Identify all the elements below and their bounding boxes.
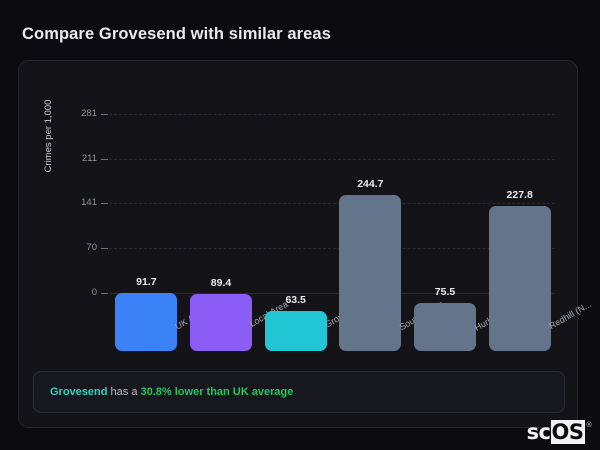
caption-middle-text: has a	[107, 386, 140, 398]
plot-area: Crimes per 1,000 070141211281 91.7UK Ave…	[19, 61, 577, 361]
y-tick-mark	[101, 248, 108, 249]
y-tick-mark	[101, 114, 108, 115]
y-tick-mark	[101, 293, 108, 294]
bar-group: 91.7UK Average89.4Local Area63.5Grovesen…	[109, 61, 555, 351]
bar[interactable]	[339, 195, 401, 351]
caption-area-name: Grovesend	[50, 386, 107, 398]
y-tick-label: 141	[57, 197, 97, 208]
y-tick-label: 281	[57, 108, 97, 119]
watermark-mark: OS	[551, 420, 585, 444]
bar-slot: 91.7	[115, 119, 177, 351]
chart-screen: Compare Grovesend with similar areas Cri…	[0, 0, 600, 450]
bar-slot: 227.8	[489, 119, 551, 351]
x-axis-label: Redhill (N...	[547, 299, 593, 331]
bar-slot: 89.4	[190, 119, 252, 351]
scos-watermark: scOS®	[527, 420, 592, 444]
bar-value-label: 63.5	[265, 294, 327, 306]
bar[interactable]	[489, 206, 551, 351]
bar[interactable]	[115, 293, 177, 351]
y-tick-label: 211	[57, 153, 97, 164]
bar[interactable]	[414, 303, 476, 351]
bar-value-label: 227.8	[489, 189, 551, 201]
chart-card: Crimes per 1,000 070141211281 91.7UK Ave…	[18, 60, 578, 428]
y-axis-title: Crimes per 1,000	[43, 81, 54, 191]
bar-slot: 63.5	[265, 119, 327, 351]
bar-value-label: 91.7	[115, 276, 177, 288]
bar-slot: 244.7	[339, 119, 401, 351]
bar-value-label: 244.7	[339, 178, 401, 190]
y-tick-mark	[101, 203, 108, 204]
summary-caption: Grovesend has a 30.8% lower than UK aver…	[33, 371, 565, 413]
caption-stat: 30.8% lower than UK average	[141, 386, 294, 398]
caption-text: Grovesend has a 30.8% lower than UK aver…	[50, 386, 293, 398]
y-tick-label: 70	[57, 242, 97, 253]
bar-value-label: 75.5	[414, 286, 476, 298]
bar[interactable]	[265, 311, 327, 351]
y-tick-mark	[101, 159, 108, 160]
y-tick-label: 0	[57, 287, 97, 298]
watermark-prefix: sc	[527, 420, 551, 444]
page-title: Compare Grovesend with similar areas	[22, 25, 331, 44]
bar-slot: 75.5	[414, 119, 476, 351]
bar[interactable]	[190, 294, 252, 351]
registered-mark-icon: ®	[586, 421, 593, 429]
bar-value-label: 89.4	[190, 277, 252, 289]
